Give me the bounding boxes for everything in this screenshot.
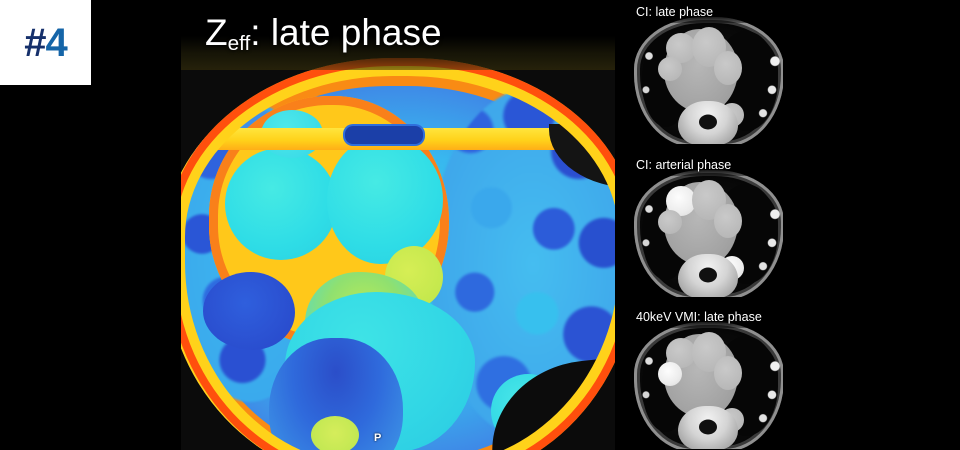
main-image-panel-zeff[interactable]: Zeff: late phase P [181, 0, 615, 450]
sternum-marker [345, 126, 423, 144]
ct-thorax-body [634, 322, 783, 449]
thumbnail-ci-arterial-phase[interactable]: CI: arterial phase [628, 154, 783, 297]
spinal-canal [311, 416, 359, 450]
ct-vessel-svc [658, 57, 682, 81]
heart-chamber-right-ventricle [327, 136, 443, 264]
ct-vertebral-body [678, 101, 738, 144]
ct-vertebral-body [678, 406, 738, 449]
slide-canvas: #4 [0, 0, 960, 450]
thumbnail-ci-late-phase[interactable]: CI: late phase [628, 1, 783, 144]
ct-vessel-svc [658, 210, 682, 234]
badge-number: 4 [46, 21, 67, 65]
main-title-prefix: Z [205, 12, 228, 53]
ct-thorax-body [634, 170, 783, 297]
thumbnail-label: 40keV VMI: late phase [636, 309, 762, 325]
thumbnail-vmi-40kev-late-phase[interactable]: 40keV VMI: late phase [628, 306, 783, 449]
thumbnail-label: CI: late phase [636, 4, 713, 20]
orientation-marker-posterior: P [374, 432, 381, 444]
slide-number-badge: #4 [0, 0, 91, 85]
main-title-subscript: eff [228, 32, 251, 55]
ct-thorax-body [634, 17, 783, 144]
ct-spinal-canal [699, 115, 717, 130]
ct-vessel-left-pulmonary [714, 51, 742, 85]
low-zeff-focus [203, 272, 295, 350]
ct-spinal-canal [699, 268, 717, 283]
ct-vessel-left-pulmonary [714, 356, 742, 390]
heart-chamber-right-atrium [225, 148, 337, 260]
ct-vessel-svc [658, 362, 682, 386]
ct-vertebral-body [678, 254, 738, 297]
thorax-body-region [181, 62, 615, 450]
ct-vessel-left-pulmonary [714, 204, 742, 238]
badge-hash-symbol: # [24, 21, 45, 65]
ct-spinal-canal [699, 420, 717, 435]
main-title-suffix: : late phase [250, 12, 441, 53]
main-image-title: Zeff: late phase [205, 14, 442, 51]
slide-number-text: #4 [24, 23, 67, 63]
thumbnail-label: CI: arterial phase [636, 157, 731, 173]
